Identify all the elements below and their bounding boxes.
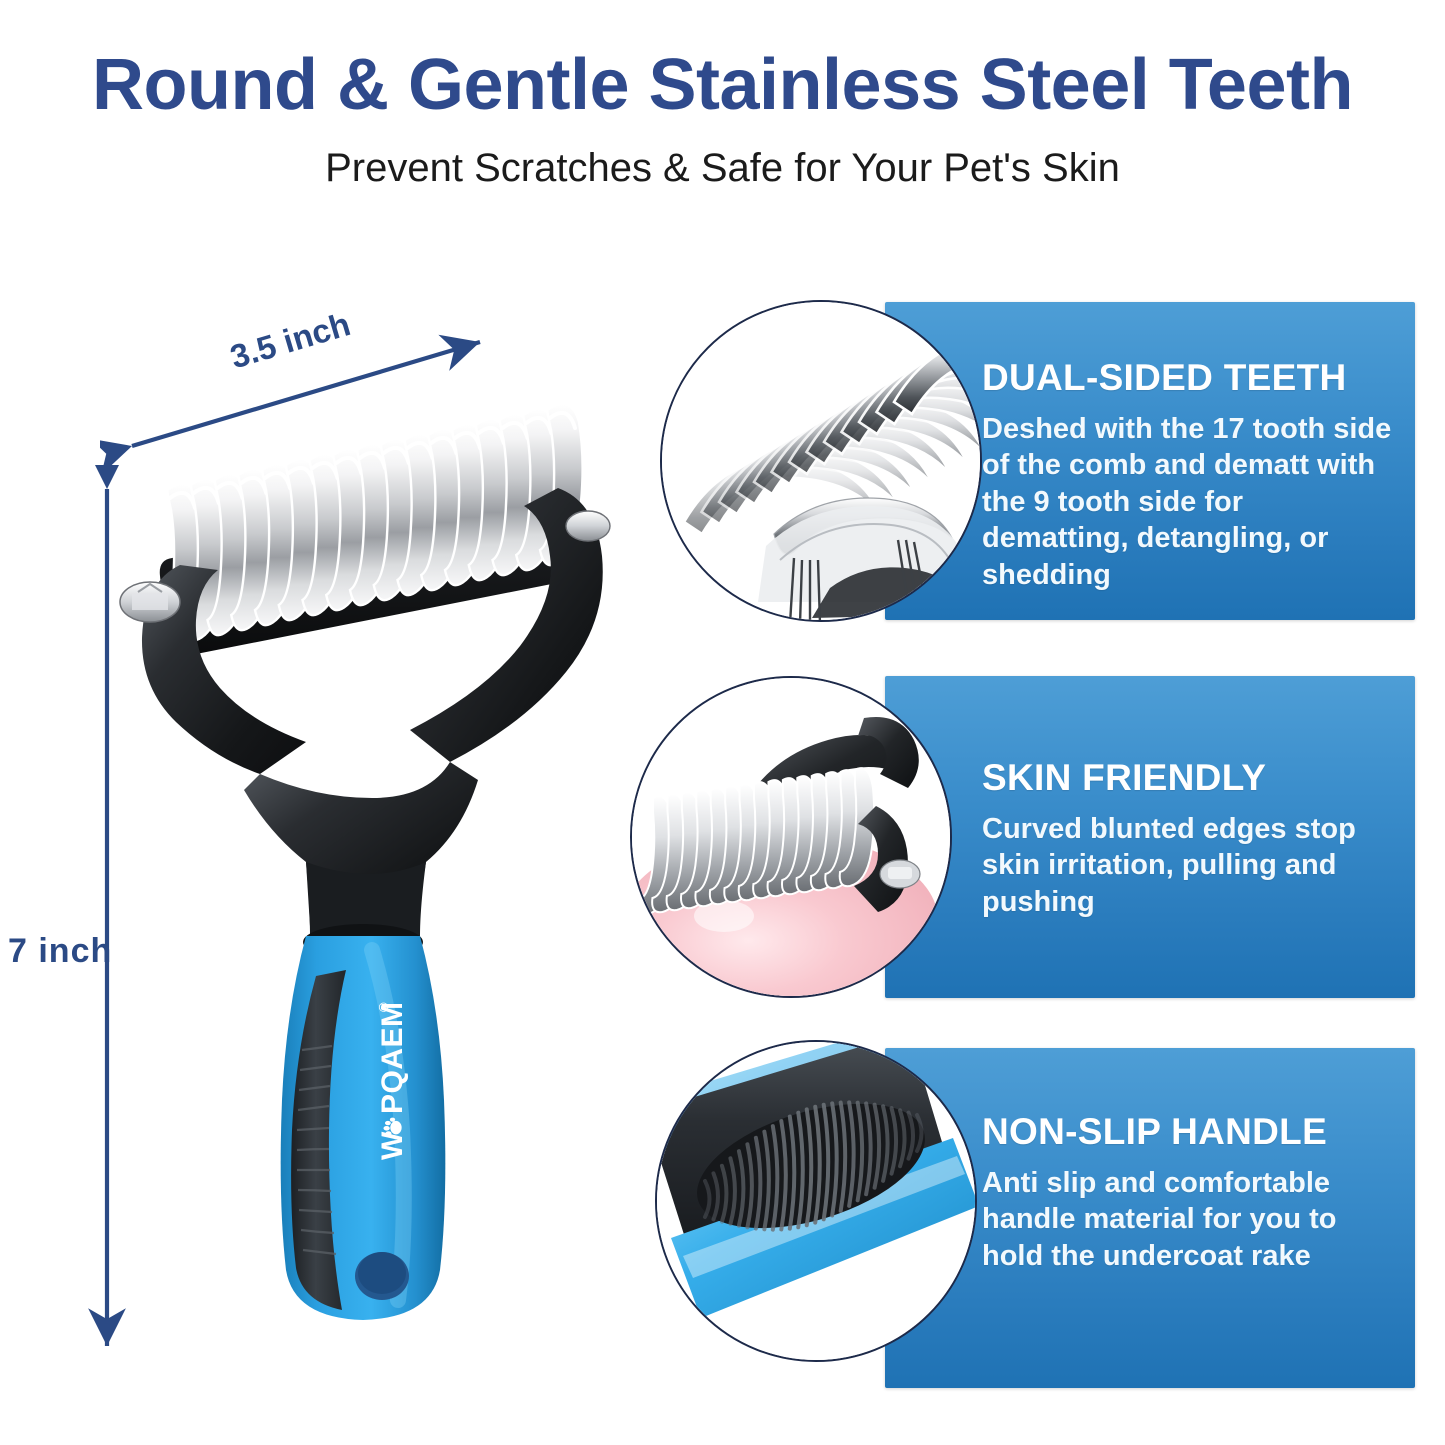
- feature-body-3: Anti slip and comfortable handle materia…: [982, 1165, 1394, 1275]
- feature-body-1: Deshed with the 17 tooth side of the com…: [982, 411, 1394, 594]
- blade-screw-cap: [120, 582, 180, 622]
- blade-screw-cap-right: [566, 511, 610, 541]
- feature-body-2: Curved blunted edges stop skin irritatio…: [982, 811, 1394, 921]
- brand-logo-text: W: [376, 1131, 409, 1160]
- infographic-canvas: Round & Gentle Stainless Steel Teeth Pre…: [0, 0, 1445, 1445]
- feature-title-2: SKIN FRIENDLY: [982, 758, 1394, 799]
- screw-cap-icon: [880, 860, 920, 888]
- feature-photo-1-blade-teeth: [660, 300, 982, 622]
- height-dimension-label: 7 inch: [8, 932, 112, 971]
- product-photo-undercoat-rake: W PQAEM ®: [110, 370, 630, 1330]
- page-subtitle: Prevent Scratches & Safe for Your Pet's …: [0, 145, 1445, 191]
- feature-title-1: DUAL-SIDED TEETH: [982, 358, 1394, 399]
- feature-title-3: NON-SLIP HANDLE: [982, 1112, 1394, 1153]
- product-handle: W PQAEM ®: [281, 936, 446, 1320]
- registered-trademark-icon: ®: [376, 1002, 391, 1012]
- brand-logo-suffix: PQAEM: [376, 1001, 409, 1114]
- page-title: Round & Gentle Stainless Steel Teeth: [0, 48, 1445, 124]
- feature-photo-3-grip: [655, 1040, 977, 1362]
- width-dimension-label: 3.5 inch: [226, 305, 355, 376]
- brand-logo: W PQAEM ®: [376, 1001, 409, 1160]
- feature-photo-2-skin-contact: [630, 676, 952, 998]
